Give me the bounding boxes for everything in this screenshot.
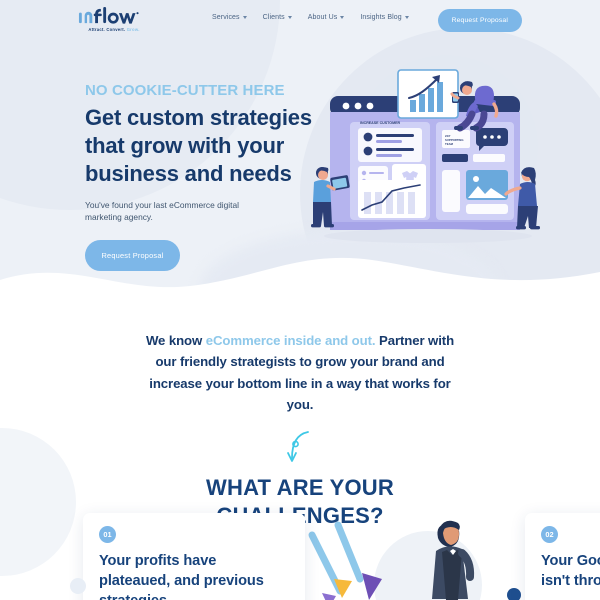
hero-heading: Get custom strategies that grow with you…: [85, 104, 315, 188]
svg-text:TEAM: TEAM: [445, 142, 454, 146]
chevron-down-icon: [288, 16, 292, 19]
challenge-card-number: 01: [99, 526, 116, 543]
tagline-grow: Grow.: [127, 27, 140, 32]
nav-item-about-us[interactable]: About Us: [308, 14, 345, 21]
logo[interactable]: Attract. Convert. Grow.: [78, 6, 150, 32]
challenges-heading-line1: WHAT ARE YOUR: [206, 475, 394, 500]
challenge-card-title: Your profits have plateaued, and previou…: [99, 551, 289, 600]
logo-tagline: Attract. Convert. Grow.: [78, 27, 150, 32]
hero-content: NO COOKIE-CUTTER HERE Get custom strateg…: [85, 82, 315, 271]
chevron-down-icon: [340, 16, 344, 19]
intro-text-part-1: We know: [146, 333, 206, 348]
top-navigation: Attract. Convert. Grow. Services Clients…: [0, 0, 600, 42]
carousel-prev-chip[interactable]: [70, 578, 86, 594]
intro-section: We know eCommerce inside and out. Partne…: [0, 330, 600, 530]
nav-item-label: Insights Blog: [360, 14, 401, 21]
hero-request-proposal-button[interactable]: Request Proposal: [85, 240, 180, 271]
curved-down-arrow-icon: [280, 426, 320, 472]
intro-paragraph: We know eCommerce inside and out. Partne…: [135, 330, 465, 416]
nav-links: Services Clients About Us Insights Blog: [212, 14, 409, 21]
tagline-convert: Convert.: [106, 27, 125, 32]
nav-item-insights-blog[interactable]: Insights Blog: [360, 14, 408, 21]
scroll-arrow: [0, 426, 600, 472]
nav-item-label: Services: [212, 14, 240, 21]
hero-subtext: You've found your last eCommerce digital…: [85, 199, 267, 223]
nav-item-label: Clients: [263, 14, 285, 21]
challenge-cards: 01 Your profits have plateaued, and prev…: [0, 513, 600, 600]
intro-highlight: eCommerce inside and out.: [206, 333, 376, 348]
challenge-card-title: Your Google Ads account isn't through: [541, 551, 600, 591]
nav-item-label: About Us: [308, 14, 338, 21]
chevron-down-icon: [405, 16, 409, 19]
logo-wordmark-icon: [78, 6, 149, 26]
challenge-card-01[interactable]: 01 Your profits have plateaued, and prev…: [83, 513, 305, 600]
hero-illustration: INCREASE CUSTOMER BUY NOW: [306, 52, 556, 252]
challenge-card-number: 02: [541, 526, 558, 543]
tagline-attract: Attract.: [88, 27, 105, 32]
nav-request-proposal-button[interactable]: Request Proposal: [438, 9, 522, 32]
nav-item-clients[interactable]: Clients: [263, 14, 292, 21]
hero-eyebrow: NO COOKIE-CUTTER HERE: [85, 82, 315, 99]
chevron-down-icon: [243, 16, 247, 19]
ecommerce-dashboard-illustration: INCREASE CUSTOMER BUY NOW: [306, 52, 556, 252]
landing-page: Attract. Convert. Grow. Services Clients…: [0, 0, 600, 600]
challenge-card-02[interactable]: 02 Your Google Ads account isn't through: [525, 513, 600, 600]
nav-item-services[interactable]: Services: [212, 14, 247, 21]
svg-text:INCREASE CUSTOMER: INCREASE CUSTOMER: [360, 121, 400, 125]
